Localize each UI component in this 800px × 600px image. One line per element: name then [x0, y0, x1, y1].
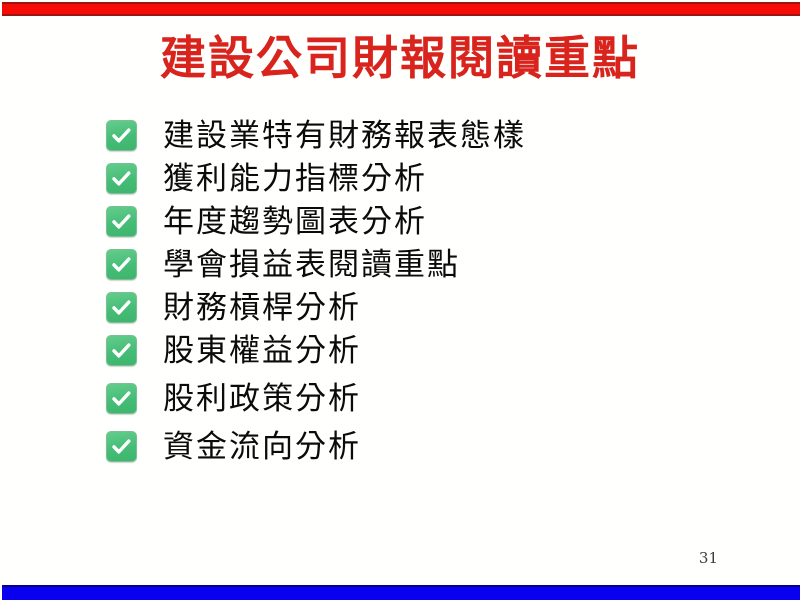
slide-title: 建設公司財報閱讀重點	[0, 30, 800, 86]
list-item[interactable]: 年度趨勢圖表分析	[106, 200, 726, 243]
check-square-icon	[106, 163, 137, 194]
top-decorative-bar	[2, 2, 800, 16]
list-item-label: 股東權益分析	[163, 333, 361, 369]
list-item[interactable]: 資金流向分析	[106, 425, 726, 468]
list-item-label: 學會損益表閱讀重點	[163, 247, 460, 283]
list-item-label: 股利政策分析	[163, 381, 361, 417]
list-item[interactable]: 獲利能力指標分析	[106, 157, 726, 200]
list-item-label: 資金流向分析	[163, 429, 361, 465]
list-item-label: 年度趨勢圖表分析	[163, 204, 427, 240]
check-square-icon	[106, 383, 137, 414]
presentation-slide: 建設公司財報閱讀重點 建設業特有財務報表態樣 獲利能力指標分析	[0, 0, 800, 600]
check-square-icon	[106, 206, 137, 237]
bottom-decorative-bar	[2, 585, 800, 600]
list-item[interactable]: 股東權益分析	[106, 329, 726, 372]
list-item-label: 建設業特有財務報表態樣	[163, 118, 526, 154]
list-item-label: 獲利能力指標分析	[163, 161, 427, 197]
list-item[interactable]: 學會損益表閱讀重點	[106, 243, 726, 286]
list-item[interactable]: 股利政策分析	[106, 377, 726, 420]
check-square-icon	[106, 120, 137, 151]
check-square-icon	[106, 292, 137, 323]
check-square-icon	[106, 335, 137, 366]
page-number: 31	[699, 549, 718, 567]
bullet-list: 建設業特有財務報表態樣 獲利能力指標分析 年度趨勢圖表分析	[106, 114, 726, 468]
list-item[interactable]: 建設業特有財務報表態樣	[106, 114, 726, 157]
check-square-icon	[106, 249, 137, 280]
list-item-label: 財務槓桿分析	[163, 290, 361, 326]
list-item[interactable]: 財務槓桿分析	[106, 286, 726, 329]
check-square-icon	[106, 431, 137, 462]
